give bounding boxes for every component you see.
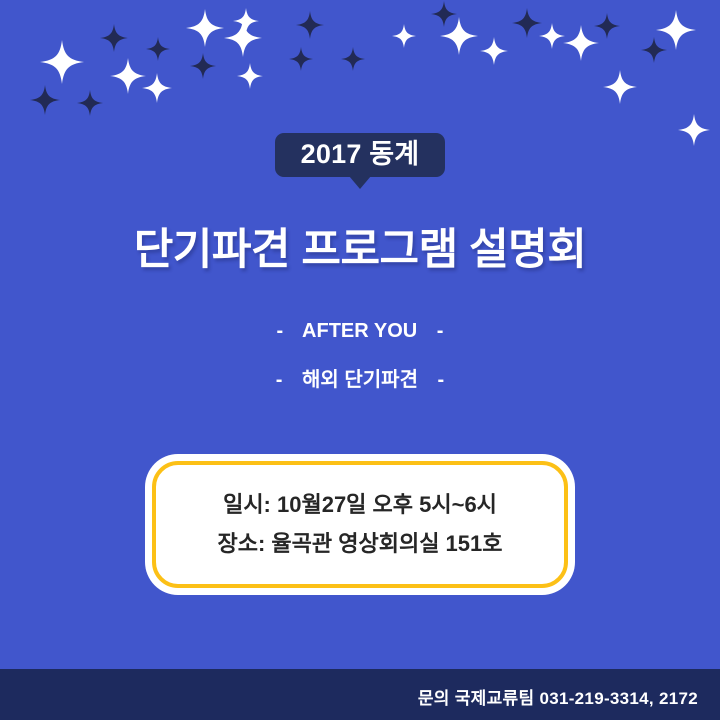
subtitle-line-1: - AFTER YOU - [0, 320, 720, 343]
subtitle-text: 해외 단기파견 [302, 369, 418, 391]
starfield-decoration [0, 0, 720, 240]
subtitle-dash-right: - [423, 320, 458, 343]
sparkle-star-icon [146, 37, 170, 61]
footer-contact-text: 문의 국제교류팀 031-219-3314, 2172 [418, 684, 698, 709]
sparkle-star-icon [480, 37, 508, 65]
sparkle-star-icon [440, 17, 478, 55]
sparkle-star-icon [392, 24, 416, 48]
sparkle-star-icon [512, 8, 542, 38]
event-datetime: 일시: 10월27일 오후 5시~6시 [223, 494, 497, 516]
sparkle-star-icon [190, 53, 216, 79]
season-badge-label: 2017 동계 [301, 141, 420, 168]
page-title: 단기파견 프로그램 설명회 [0, 226, 720, 275]
subtitle-line-2: - 해외 단기파견 - [0, 363, 720, 392]
sparkle-star-icon [289, 47, 313, 71]
sparkle-star-icon [594, 13, 620, 39]
sparkle-star-icon [237, 63, 263, 89]
event-location: 장소: 율곡관 영상회의실 151호 [217, 533, 502, 555]
footer-bar: 문의 국제교류팀 031-219-3314, 2172 [0, 669, 720, 720]
sparkle-star-icon [186, 9, 224, 47]
season-badge-container: 2017 동계 [0, 133, 720, 177]
subtitle-dash-left: - [262, 369, 297, 392]
sparkle-star-icon [563, 25, 599, 61]
sparkle-star-icon [30, 85, 60, 115]
sparkle-star-icon [110, 58, 146, 94]
subtitle-dash-right: - [424, 369, 459, 392]
sparkle-star-icon [233, 8, 259, 34]
sparkle-star-icon [641, 37, 667, 63]
sparkle-star-icon [341, 47, 365, 71]
poster-canvas: 2017 동계 단기파견 프로그램 설명회 - AFTER YOU - - 해외… [0, 0, 720, 720]
sparkle-star-icon [539, 23, 565, 49]
sparkle-star-icon [77, 90, 103, 116]
sparkle-star-icon [431, 1, 457, 27]
subtitle-text: AFTER YOU [302, 320, 417, 342]
sparkle-star-icon [296, 11, 324, 39]
badge-tail-triangle-icon [349, 176, 371, 189]
event-details-card: 일시: 10월27일 오후 5시~6시 장소: 율곡관 영상회의실 151호 [152, 461, 568, 588]
subtitle-dash-left: - [263, 320, 298, 343]
sparkle-star-icon [224, 19, 262, 57]
sparkle-star-icon [100, 24, 128, 52]
sparkle-star-icon [656, 10, 696, 50]
season-badge: 2017 동계 [275, 133, 446, 177]
sparkle-star-icon [603, 70, 637, 104]
sparkle-star-icon [40, 40, 84, 84]
sparkle-star-icon [142, 73, 172, 103]
